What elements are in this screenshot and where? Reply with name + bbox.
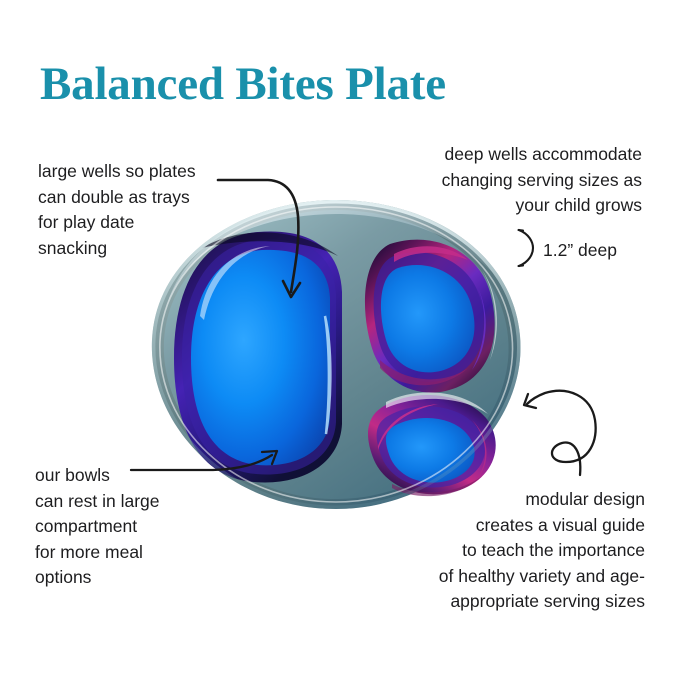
annotation-our-bowls: our bowls can rest in large compartment … [35,463,250,591]
annotation-large-wells: large wells so plates can double as tray… [38,159,268,261]
annotation-deep-wells: deep wells accommodate changing serving … [392,142,642,219]
depth-callout: 1.2” deep [516,228,617,273]
depth-measurement-label: 1.2” deep [543,242,617,260]
arrow-to-modular-design [524,391,596,475]
infographic-page: Balanced Bites Plate [0,0,679,679]
annotation-modular-design: modular design creates a visual guide to… [420,487,645,615]
curly-bracket-icon [516,228,536,273]
page-title: Balanced Bites Plate [40,61,446,108]
